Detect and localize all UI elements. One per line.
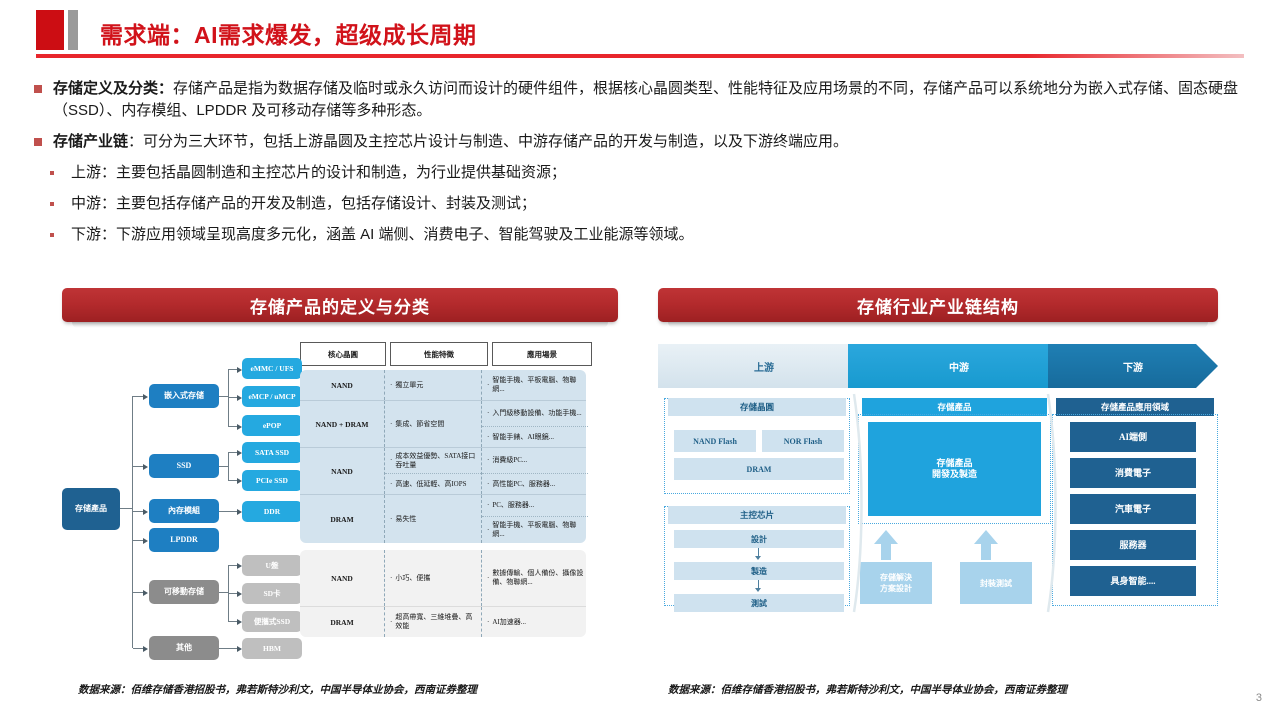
bullet-glyph: · [487,526,489,535]
table-row: DRAM ·超高帶寬、三維堆疊、高效能 ·AI加速器... [300,606,586,637]
tree-arrow-icon [143,509,148,515]
slide-header: 需求端：AI需求爆发，超级成长周期 [0,0,1280,62]
bullet-text: 上游：主要包括晶圆制造和主控芯片的设计和制造，为行业提供基础资源； [71,162,566,184]
table-row: NAND ·獨立單元 ·智能手機、平板電腦、物聯網... [300,370,586,400]
right-panel-title: 存储行业产业链结构 [658,288,1218,322]
bullet-item: 上游：主要包括晶圆制造和主控芯片的设计和制造，为行业提供基础资源； [34,162,1250,184]
bullet-glyph: · [487,501,489,510]
tree-leaf-line [219,648,237,649]
square-bullet-icon [34,138,42,146]
bullet-glyph: · [390,420,392,429]
product-tree: 存储產品 嵌入式存储 SSD 內存模組 LPDDR 可移動存储 其他 [62,364,302,664]
bullet-glyph: · [487,574,489,583]
tree-leaf-line [219,511,237,512]
tree-branch-line [133,592,143,593]
cell-performance: ·超高帶寬、三維堆疊、高效能 [384,607,481,637]
tree-leaf-line [229,397,237,398]
left-panel-title: 存储产品的定义与分类 [62,288,618,322]
table-row: NAND ·小巧、便攜 ·數據傳輸、個人備份、攝像設備、物聯網... [300,550,586,606]
tree-trunk [132,396,133,648]
value-chain-chevrons: 上游 中游 下游 [658,344,1218,388]
cell-line: ·AI加速器... [482,607,588,637]
bullet-glyph: · [390,456,392,465]
bullet-body: 存储产品是指为数据存储及临时或永久访问而设计的硬件组件，根据核心晶圆类型、性能特… [53,80,1238,119]
tree-leaf-sd-card: SD卡 [242,583,302,604]
flow-arrow-icon [755,588,761,592]
page-title: 需求端：AI需求爆发，超级成长周期 [100,16,477,50]
cell-line: ·消費級PC... [482,448,588,473]
upstream-controller-header: 主控芯片 [668,506,846,524]
tree-leaf-portable-ssd: 便攜式SSD [242,611,302,632]
bullet-text: 存储产业链：可分为三大环节，包括上游晶圆及主控芯片设计与制造、中游存储产品的开发… [53,131,848,153]
midstream-main-box: 存儲產品 開發及製造 [868,422,1041,516]
upstream-step-manufacture: 製造 [674,562,844,580]
column-header-wafer: 核心晶圓 [300,342,386,366]
right-panel-header: 存储行业产业链结构 [658,288,1218,328]
tree-branch-line [133,396,143,397]
tree-root-stub [120,508,133,509]
tree-mid-node-embedded: 嵌入式存储 [149,384,219,408]
tree-arrow-icon [143,394,148,400]
upstream-item-nand-flash: NAND Flash [674,430,756,452]
cell-line: ·小巧、便攜 [385,550,481,606]
tree-mid-node-lpddr: LPDDR [149,528,219,552]
tree-leaf-line [229,452,237,453]
left-figure: 核心晶圓 性能特徵 應用場景 存储產品 嵌入式存储 [62,334,618,670]
tree-leaf-pcie-ssd: PCIe SSD [242,470,302,491]
dot-bullet-icon [50,202,54,206]
tree-arrow-icon [143,646,148,652]
tree-branch-line [133,540,143,541]
tree-leaf-line [229,621,237,622]
chevron-upstream: 上游 [658,344,870,388]
tree-root-node: 存储產品 [62,488,120,530]
column-header-application: 應用場景 [492,342,592,366]
midstream-support-solution-design: 存儲解決 方案設計 [860,562,932,604]
header-gray-bar [68,10,78,50]
header-divider [36,54,1244,58]
tree-leaf-ddr: DDR [242,501,302,522]
dot-bullet-icon [50,233,54,237]
bullet-lead: 存储产业链 [53,133,128,150]
cell-performance: ·成本效益優勢、SATA接口吞吐量 ·高速、低延輊、高IOPS [384,448,481,494]
classification-table: NAND ·獨立單元 ·智能手機、平板電腦、物聯網... NAND + DRAM… [300,370,586,637]
bullet-item: 下游：下游应用领域呈现高度多元化，涵盖 AI 端侧、消费电子、智能驾驶及工业能源… [34,224,1250,246]
table-column-headers: 核心晶圓 性能特徵 應用場景 [300,342,592,366]
downstream-item-automotive: 汽車電子 [1070,494,1196,524]
slide: 需求端：AI需求爆发，超级成长周期 存储定义及分类：存储产品是指为数据存储及临时… [0,0,1280,720]
table-row: NAND + DRAM ·集成、節省空間 ·入門級移動設備、功能手機... ·智… [300,400,586,447]
upstream-step-design: 設計 [674,530,844,548]
upstream-step-test: 測試 [674,594,844,612]
bullet-list: 存储定义及分类：存储产品是指为数据存储及临时或永久访问而设计的硬件组件，根据核心… [34,78,1250,255]
bullet-glyph: · [487,381,489,390]
tree-leaf-line [229,369,237,370]
cell-wafer: NAND + DRAM [300,401,384,447]
cell-wafer: NAND [300,370,384,400]
table-row: DRAM ·易失性 ·PC、服務器... ·智能手機、平板電腦、物聯網... [300,494,586,543]
cell-wafer: NAND [300,550,384,606]
cell-application: ·PC、服務器... ·智能手機、平板電腦、物聯網... [481,495,588,543]
cell-line: ·易失性 [385,495,481,543]
right-panel-title-shadow [668,322,1208,328]
tree-branch-line [133,511,143,512]
bullet-glyph: · [487,433,489,442]
left-source-note: 数据来源：佰维存储香港招股书，弗若斯特沙利文，中国半导体业协会，西南证券整理 [78,682,477,697]
cell-application: ·消費級PC... ·高性能PC、服務器... [481,448,588,494]
square-bullet-icon [34,85,42,93]
cell-line: ·PC、服務器... [482,495,588,516]
bullet-item: 存储定义及分类：存储产品是指为数据存储及临时或永久访问而设计的硬件组件，根据核心… [34,78,1250,122]
flow-arrow-icon [755,556,761,560]
cell-line: ·數據傳輸、個人備份、攝像設備、物聯網... [482,550,588,606]
bullet-glyph: · [390,515,392,524]
cell-application: ·智能手機、平板電腦、物聯網... [481,370,588,400]
bullet-item: 中游：主要包括存储产品的开发及制造，包括存储设计、封装及测试； [34,193,1250,215]
bullet-glyph: · [487,409,489,418]
chevron-downstream: 下游 [1048,344,1218,388]
downstream-item-ai-edge: AI端側 [1070,422,1196,452]
column-header-performance: 性能特徵 [390,342,488,366]
tree-leaf-emmc-ufs: eMMC / UFS [242,358,302,379]
cell-application: ·入門級移動設備、功能手機... ·智能手錶、AI眼鏡... [481,401,588,447]
upstream-item-nor-flash: NOR Flash [762,430,844,452]
bullet-glyph: · [487,456,489,465]
tree-leaf-line [229,593,237,594]
bullet-text: 存储定义及分类：存储产品是指为数据存储及临时或永久访问而设计的硬件组件，根据核心… [53,78,1250,122]
tree-leaf-line [229,426,237,427]
bullet-glyph: · [487,618,489,627]
cell-performance: ·獨立單元 [384,370,481,400]
tree-arrow-icon [143,464,148,470]
cell-performance: ·小巧、便攜 [384,550,481,606]
tree-mid-node-ssd: SSD [149,454,219,478]
cell-line: ·高速、低延輊、高IOPS [385,473,481,494]
cell-line: ·高性能PC、服務器... [482,473,588,494]
cell-application: ·AI加速器... [481,607,588,637]
tree-leaf-line [229,480,237,481]
tree-arrow-icon [143,590,148,596]
cell-wafer: NAND [300,448,384,494]
right-figure: 上游 中游 下游 存儲晶圓 NAND Flash NOR Flash DRAM … [658,334,1218,670]
left-panel-title-shadow [72,322,608,328]
bullet-lead: 存储定义及分类： [53,80,173,97]
bullet-text: 下游：下游应用领域呈现高度多元化，涵盖 AI 端侧、消费电子、智能驾驶及工业能源… [71,224,694,246]
tree-leaf-usb-drive: U盤 [242,555,302,576]
chevron-midstream: 中游 [848,344,1070,388]
tree-leaf-hbm: HBM [242,638,302,659]
table-group-gap [300,543,586,550]
dot-bullet-icon [50,171,54,175]
bullet-glyph: · [390,618,392,627]
bullet-body: ：可分为三大环节，包括上游晶圆及主控芯片设计与制造、中游存储产品的开发与制造，以… [128,133,848,150]
cell-application: ·數據傳輸、個人備份、攝像設備、物聯網... [481,550,588,606]
midstream-support-packaging-test: 封裝測試 [960,562,1032,604]
page-number: 3 [1256,692,1262,704]
cell-line: ·集成、節省空間 [385,401,481,447]
header-red-block [36,10,64,50]
bullet-text: 中游：主要包括存储产品的开发及制造，包括存储设计、封装及测试； [71,193,536,215]
tree-mid-node-removable: 可移動存储 [149,580,219,604]
cell-line: ·智能手錶、AI眼鏡... [482,426,588,447]
cell-line: ·智能手機、平板電腦、物聯網... [482,370,588,400]
bullet-glyph: · [390,480,392,489]
cell-line: ·獨立單元 [385,370,481,400]
bullet-glyph: · [487,480,489,489]
tree-leaf-spine [228,452,229,481]
tree-leaf-sata-ssd: SATA SSD [242,442,302,463]
left-panel-header: 存储产品的定义与分类 [62,288,618,328]
cell-line: ·成本效益優勢、SATA接口吞吐量 [385,448,481,473]
tree-arrow-icon [143,538,148,544]
cell-line: ·智能手機、平板電腦、物聯網... [482,516,588,543]
upstream-item-dram: DRAM [674,458,844,480]
downstream-item-consumer-electronics: 消費電子 [1070,458,1196,488]
midstream-up-arrows [858,530,1058,560]
cell-performance: ·易失性 [384,495,481,543]
cell-line: ·入門級移動設備、功能手機... [482,401,588,426]
cell-line: ·超高帶寬、三維堆疊、高效能 [385,607,481,637]
cell-performance: ·集成、節省空間 [384,401,481,447]
bullet-glyph: · [390,574,392,583]
bullet-glyph: · [390,381,392,390]
right-source-note: 数据来源：佰维存储香港招股书，弗若斯特沙利文，中国半导体业协会，西南证券整理 [668,682,1067,697]
tree-leaf-epop: ePOP [242,415,302,436]
tree-branch-line [133,466,143,467]
downstream-item-server: 服務器 [1070,530,1196,560]
upstream-wafer-header: 存儲晶圓 [668,398,846,416]
tree-leaf-emcp-umcp: eMCP / uMCP [242,386,302,407]
tree-leaf-line [229,565,237,566]
table-row: NAND ·成本效益優勢、SATA接口吞吐量 ·高速、低延輊、高IOPS ·消費… [300,447,586,494]
bullet-item: 存储产业链：可分为三大环节，包括上游晶圆及主控芯片设计与制造、中游存储产品的开发… [34,131,1250,153]
downstream-item-embodied-ai: 具身智能.... [1070,566,1196,596]
cell-wafer: DRAM [300,607,384,637]
tree-branch-line [133,648,143,649]
tree-mid-node-memory-module: 內存模組 [149,499,219,523]
tree-mid-node-other: 其他 [149,636,219,660]
cell-wafer: DRAM [300,495,384,543]
